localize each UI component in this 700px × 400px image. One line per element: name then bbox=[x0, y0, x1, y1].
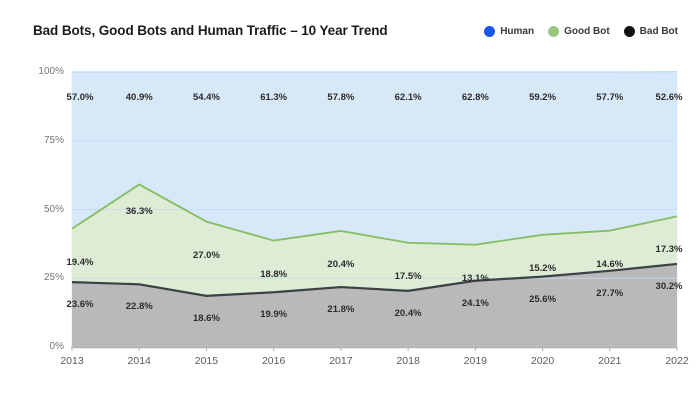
data-label-good-bot: 19.4% bbox=[50, 257, 110, 268]
data-label-human: 59.2% bbox=[513, 92, 573, 103]
data-label-good-bot: 13.1% bbox=[445, 273, 505, 284]
y-axis-tick-label: 25% bbox=[28, 272, 64, 283]
data-label-bad-bot: 21.8% bbox=[311, 304, 371, 315]
plot-area: 0%25%50%75%100%2013201420152016201720182… bbox=[0, 0, 700, 400]
x-axis-tick-label: 2018 bbox=[378, 355, 438, 367]
data-label-good-bot: 15.2% bbox=[513, 263, 573, 274]
data-label-bad-bot: 18.6% bbox=[176, 313, 236, 324]
data-label-good-bot: 18.8% bbox=[244, 269, 304, 280]
x-axis-tick-label: 2019 bbox=[445, 355, 505, 367]
data-label-human: 57.0% bbox=[50, 92, 110, 103]
data-label-human: 40.9% bbox=[109, 92, 169, 103]
data-label-good-bot: 17.5% bbox=[378, 271, 438, 282]
data-label-human: 62.8% bbox=[445, 92, 505, 103]
data-label-human: 61.3% bbox=[244, 92, 304, 103]
data-label-bad-bot: 23.6% bbox=[50, 299, 110, 310]
data-label-bad-bot: 24.1% bbox=[445, 298, 505, 309]
data-label-bad-bot: 22.8% bbox=[109, 301, 169, 312]
x-axis-tick-label: 2022 bbox=[647, 355, 700, 367]
data-label-human: 54.4% bbox=[176, 92, 236, 103]
data-label-good-bot: 14.6% bbox=[580, 259, 640, 270]
data-label-human: 52.6% bbox=[639, 92, 699, 103]
x-axis-tick-label: 2015 bbox=[176, 355, 236, 367]
data-label-good-bot: 20.4% bbox=[311, 259, 371, 270]
x-axis-tick-label: 2021 bbox=[580, 355, 640, 367]
data-label-human: 57.8% bbox=[311, 92, 371, 103]
y-axis-tick-label: 50% bbox=[28, 204, 64, 215]
data-label-bad-bot: 27.7% bbox=[580, 288, 640, 299]
chart-canvas bbox=[0, 0, 700, 400]
data-label-human: 62.1% bbox=[378, 92, 438, 103]
data-label-human: 57.7% bbox=[580, 92, 640, 103]
data-label-good-bot: 36.3% bbox=[109, 206, 169, 217]
data-label-bad-bot: 20.4% bbox=[378, 308, 438, 319]
data-label-bad-bot: 19.9% bbox=[244, 309, 304, 320]
x-axis-tick-label: 2017 bbox=[311, 355, 371, 367]
data-label-good-bot: 27.0% bbox=[176, 250, 236, 261]
x-axis-tick-label: 2014 bbox=[109, 355, 169, 367]
x-axis-tick-label: 2013 bbox=[42, 355, 102, 367]
x-axis-tick-label: 2016 bbox=[244, 355, 304, 367]
x-axis-tick-label: 2020 bbox=[513, 355, 573, 367]
data-label-good-bot: 17.3% bbox=[639, 244, 699, 255]
data-label-bad-bot: 30.2% bbox=[639, 281, 699, 292]
chart-card: Bad Bots, Good Bots and Human Traffic – … bbox=[0, 0, 700, 400]
y-axis-tick-label: 100% bbox=[28, 66, 64, 77]
y-axis-tick-label: 75% bbox=[28, 135, 64, 146]
data-label-bad-bot: 25.6% bbox=[513, 294, 573, 305]
y-axis-tick-label: 0% bbox=[28, 341, 64, 352]
